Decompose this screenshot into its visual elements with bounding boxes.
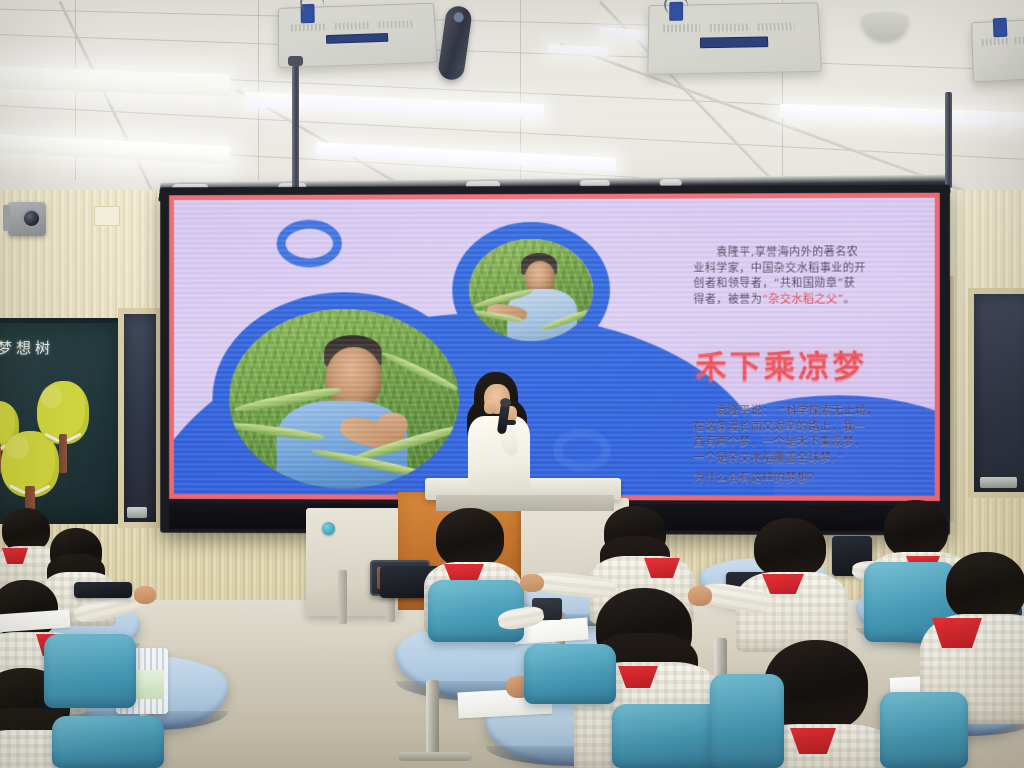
ceiling-light-panel <box>0 66 230 97</box>
slide-paragraph-1: 袁隆平,享誉海内外的著名农 业科学家，中国杂交水稻事业的开 创者和领导者，“共和… <box>693 244 931 307</box>
student-hair <box>604 506 666 560</box>
student-hair <box>754 518 826 578</box>
para2-line: 袁隆平说： “科学探索无止境， <box>693 403 935 419</box>
para2-line: 在这条漫长而又艰辛的路上，我一 <box>693 419 935 435</box>
para1-line: 得者，被誉为 <box>693 293 762 306</box>
chair[interactable] <box>880 692 968 768</box>
pencil-pouch[interactable] <box>74 582 132 598</box>
wall-access-plate <box>94 206 120 226</box>
projector-drop-rod <box>945 92 952 188</box>
chair[interactable] <box>44 634 136 708</box>
student-hair <box>50 528 102 576</box>
classroom-scene: 梦想树 <box>0 0 1024 768</box>
chair[interactable] <box>710 674 784 768</box>
ptz-wall-camera <box>8 202 46 236</box>
yuan-longping-portrait-large <box>229 309 459 489</box>
para1-line: 袁隆平,享誉海内外的著名农 <box>693 244 931 260</box>
presenter-hand <box>484 400 496 414</box>
side-wall-display[interactable] <box>968 288 1024 498</box>
student-hand <box>520 574 544 592</box>
ceiling <box>0 0 1024 200</box>
slide-paragraph-2: 袁隆平说： “科学探索无止境， 在这条漫长而又艰辛的路上，我一 直有两个梦，一个… <box>693 403 935 487</box>
para2-line: 为什么会有这样的梦想？ <box>693 471 935 487</box>
ceiling-projector-right <box>971 16 1024 82</box>
ceiling-light-panel <box>0 134 230 165</box>
ceiling-light-strip <box>244 92 544 120</box>
side-wall-display[interactable] <box>118 308 162 528</box>
blue-ring-outline-top <box>277 220 342 268</box>
chalkboard-title: 梦想树 <box>0 337 54 358</box>
ceiling-dome-camera <box>862 12 908 40</box>
ceiling-light-strip <box>548 44 608 56</box>
para2-line: 直有两个梦，一个是禾下乘凉梦， <box>693 434 935 450</box>
student-presenter <box>466 372 534 492</box>
para1-highlight: “杂交水稻之父” <box>762 292 843 305</box>
chair[interactable] <box>524 644 616 704</box>
para1-tail: 。 <box>844 292 856 305</box>
desk-foot <box>398 752 472 761</box>
tree-graphic <box>37 381 89 469</box>
power-knob[interactable] <box>322 522 335 535</box>
ceiling-light-strip <box>780 104 1024 127</box>
slide-title: 禾下乘凉梦 <box>695 341 866 386</box>
chair[interactable] <box>52 716 164 768</box>
student-hand <box>134 586 156 604</box>
para1-line: 业科学家，中国杂交水稻事业的开 <box>693 260 931 276</box>
list-item <box>946 552 1024 708</box>
student-hair <box>884 500 948 558</box>
student-hair <box>436 508 504 568</box>
yuan-longping-portrait-small <box>469 239 593 341</box>
podium-leg <box>338 570 347 624</box>
slide-canvas: 袁隆平,享誉海内外的著名农 业科学家，中国杂交水稻事业的开 创者和领导者，“共和… <box>169 193 940 501</box>
para2-line: 一个是杂交水稻覆盖全球梦。” <box>693 450 935 466</box>
student-hair <box>946 552 1024 622</box>
desk-post <box>426 680 439 758</box>
projector-drop-rod <box>292 62 299 190</box>
dream-tree-board: 梦想树 <box>0 318 126 524</box>
student-hand <box>688 586 712 606</box>
wristband <box>501 420 516 425</box>
para1-line: 创者和领导者，“共和国勋章”获 <box>693 276 931 292</box>
blue-ring-outline-right <box>553 429 611 471</box>
list-item <box>754 518 832 630</box>
ceiling-speaker-pod <box>437 5 473 82</box>
